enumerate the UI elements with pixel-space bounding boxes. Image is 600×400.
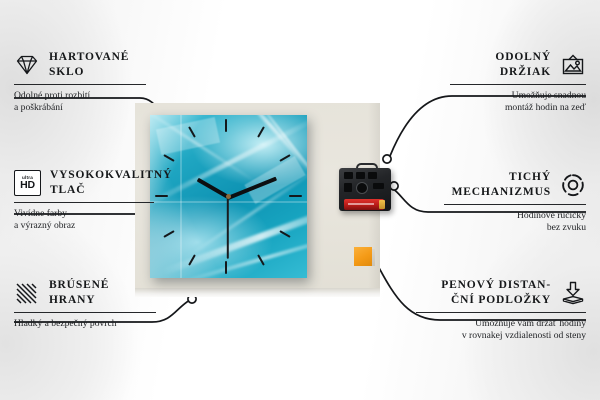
feature-desc: Odolné proti rozbití a poškrábání: [14, 90, 146, 115]
divider: [14, 84, 146, 85]
feature-title: PENOVÝ DISTAN- ČNÍ PODLOŽKY: [441, 278, 551, 307]
feature-desc: Umožňuje snadnou montáž hodin na zeď: [450, 90, 586, 115]
feature-title: ODOLNÝ DRŽIAK: [495, 50, 551, 79]
product-photo: [135, 103, 380, 297]
feature-title: HARTOVANÉ SKLO: [49, 50, 129, 79]
feature-brusene-hrany: BRÚSENÉ HRANY Hladký a bezpečný povrch: [14, 278, 156, 330]
picture-hanger-icon: [560, 52, 586, 78]
feature-penove-podlozky: PENOVÝ DISTAN- ČNÍ PODLOŽKY Umožňuje vám…: [416, 278, 586, 343]
divider: [14, 312, 156, 313]
divider: [450, 84, 586, 85]
beveled-edge-icon: [14, 280, 40, 306]
feature-title: VYSOKOKVALITNÝ TLAČ: [50, 168, 172, 197]
feature-desc: Hodinové ručičky bez zvuku: [444, 210, 586, 235]
diamond-icon: [14, 52, 40, 78]
feature-tichy-mechanizmus: TICHÝ MECHANIZMUS Hodinové ručičky bez z…: [444, 170, 586, 235]
connector-dot-right-1: [383, 155, 391, 163]
feature-desc: Hladký a bezpečný povrch: [14, 318, 156, 330]
feature-title: TICHÝ MECHANIZMUS: [452, 170, 551, 199]
feature-odolny-drziak: ODOLNÝ DRŽIAK Umožňuje snadnou montáž ho…: [450, 50, 586, 115]
feature-hartovane-sklo: HARTOVANÉ SKLO Odolné proti rozbití a po…: [14, 50, 146, 115]
foam-spacer-icon: [560, 280, 586, 306]
divider: [416, 312, 586, 313]
glass-clock: [150, 115, 307, 278]
ultra-hd-badge-icon: ultra HD: [14, 170, 41, 196]
battery: [344, 199, 384, 210]
gear-icon: [560, 172, 586, 198]
feature-desc: Umožňuje vám držať hodiny v rovnakej vzd…: [416, 318, 586, 343]
badge-hd-label: HD: [20, 180, 35, 191]
feature-desc: Vivídne farby a výrazný obraz: [14, 208, 154, 233]
clock-mechanism: [339, 163, 391, 211]
infographic-canvas: HARTOVANÉ SKLO Odolné proti rozbití a po…: [0, 0, 600, 400]
feature-title: BRÚSENÉ HRANY: [49, 278, 109, 307]
foam-spacer-pad: [354, 247, 375, 267]
connector-dot-right-2: [390, 182, 398, 190]
divider: [14, 202, 154, 203]
feature-vysokokvalitny-tlac: ultra HD VYSOKOKVALITNÝ TLAČ Vivídne far…: [14, 168, 154, 233]
mechanism-body: [339, 168, 391, 211]
divider: [444, 204, 586, 205]
wall-bottom-shadow: [135, 288, 380, 297]
